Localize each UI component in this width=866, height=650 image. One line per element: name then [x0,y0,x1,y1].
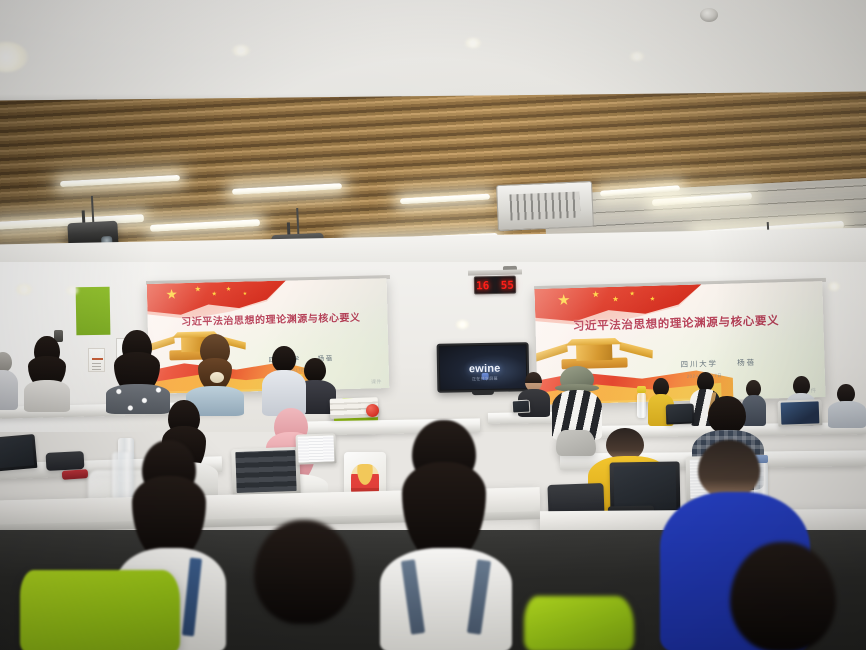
soffit-downlight [828,282,840,291]
head [730,542,836,650]
tablet[interactable] [231,447,301,497]
display-app-sub: 正在共享屏幕 [472,376,498,382]
wall-notice [88,348,105,372]
student-bl-2 [24,336,70,410]
clock-hours: 16 [476,280,489,291]
phone[interactable] [62,469,89,480]
downlight [465,38,481,48]
tablet-screen [235,450,296,493]
head [708,396,746,434]
student-front-2 [380,420,512,650]
slide-affiliation: 四川大学 [680,359,717,369]
ceiling-ac-vent [496,181,594,231]
laptop[interactable] [512,400,531,414]
head [304,358,326,382]
laptop-screen [298,435,334,462]
laptop-screen [667,405,692,423]
wall-display[interactable]: ewine 正在共享屏幕 [437,342,530,393]
laptop[interactable] [295,433,336,464]
torso [24,380,70,412]
apple[interactable] [366,404,379,417]
student-back-5 [828,384,866,428]
monument-body [576,343,612,361]
bottle-cap [637,386,646,393]
ceiling-speaker-icon [700,8,718,22]
student-front-4 [700,542,866,650]
chair[interactable] [20,570,180,650]
clock-separator [492,280,498,289]
lecture-hall-photo: 16 55 习近平法治思想的理论渊源与核心要义 四川大学 [0,0,866,650]
laptop[interactable] [778,399,823,427]
head [698,440,760,498]
display-screen: ewine 正在共享屏幕 [440,345,527,389]
laptop-screen [513,400,529,412]
monument-wing-right [620,342,654,359]
soffit-downlight [456,320,469,329]
water-bottle[interactable] [637,392,646,418]
torso [0,370,18,410]
head [0,352,12,372]
green-accent-panel [76,287,111,336]
soffit-downlight [66,286,79,295]
torso [380,548,512,650]
ceiling-plaster [0,0,866,104]
head [254,520,354,624]
display-stand [472,391,494,395]
student-bl-6 [262,346,306,416]
laptop[interactable] [0,434,37,472]
laptop[interactable] [666,404,695,425]
laptop-screen [0,437,34,469]
hair-tie [210,372,224,383]
pencil-case[interactable] [46,451,85,471]
slide-watermark: 课件 [371,378,382,385]
laptop-screen [780,401,819,424]
downlight [630,52,644,61]
chair[interactable] [556,430,596,456]
wall-digital-clock: 16 55 [474,276,516,295]
slide-presenter-name: 杨蓓 [737,358,756,368]
clock-minutes: 55 [501,279,514,290]
student-bl-1 [0,352,20,410]
bucket-hat [560,366,594,388]
monument-roof [565,338,622,346]
chair[interactable] [524,596,634,650]
slide-presenter: 四川大学 杨蓓 [680,355,818,370]
soffit-downlight [16,284,32,295]
student-front-5 [240,520,370,650]
head [272,346,296,372]
downlight [232,45,250,56]
torso [828,401,866,428]
